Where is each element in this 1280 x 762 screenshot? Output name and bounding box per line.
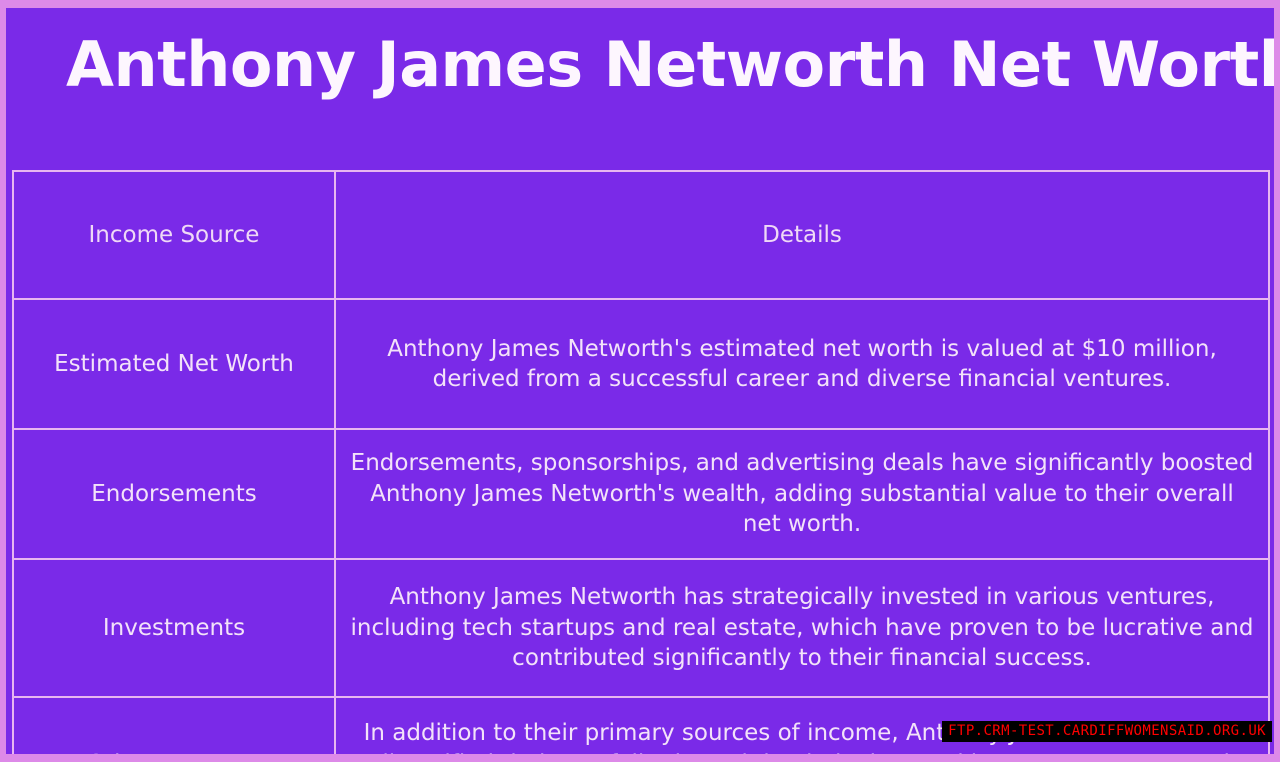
table-body: Estimated Net Worth Anthony James Networ… — [13, 299, 1269, 754]
table-header: Income Source Details — [13, 171, 1269, 299]
table-row: Estimated Net Worth Anthony James Networ… — [13, 299, 1269, 429]
row-details-investments: Anthony James Networth has strategically… — [335, 559, 1269, 697]
watermark-url: FTP.CRM-TEST.CARDIFFWOMENSAID.ORG.UK — [942, 721, 1272, 742]
row-label-other-ventures: Other Ventures — [13, 697, 335, 754]
networth-table: Income Source Details Estimated Net Wort… — [12, 170, 1270, 754]
row-details-estimated-net-worth: Anthony James Networth's estimated net w… — [335, 299, 1269, 429]
column-header-details: Details — [335, 171, 1269, 299]
column-header-income-source: Income Source — [13, 171, 335, 299]
page-panel: Anthony James Networth Net Worth Income … — [6, 8, 1274, 754]
table-row: Investments Anthony James Networth has s… — [13, 559, 1269, 697]
row-label-estimated-net-worth: Estimated Net Worth — [13, 299, 335, 429]
row-details-endorsements: Endorsements, sponsorships, and advertis… — [335, 429, 1269, 559]
networth-table-container: Income Source Details Estimated Net Wort… — [12, 170, 1268, 754]
row-label-investments: Investments — [13, 559, 335, 697]
page-title: Anthony James Networth Net Worth — [6, 8, 1274, 97]
row-label-endorsements: Endorsements — [13, 429, 335, 559]
table-header-row: Income Source Details — [13, 171, 1269, 299]
table-row: Endorsements Endorsements, sponsorships,… — [13, 429, 1269, 559]
